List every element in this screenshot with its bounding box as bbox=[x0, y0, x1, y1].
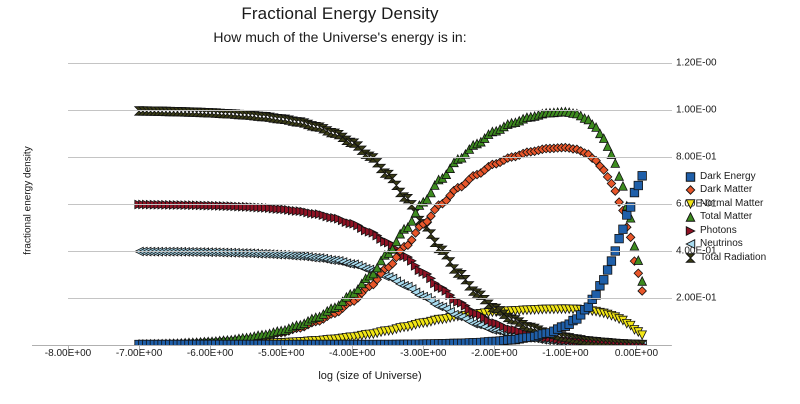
chart-legend: Dark EnergyDark MatterNormal MatterTotal… bbox=[684, 170, 800, 265]
x-tick-mark bbox=[636, 345, 637, 349]
y-tick-label: 1.00E-00 bbox=[676, 105, 717, 116]
x-axis-title: log (size of Universe) bbox=[68, 370, 672, 382]
gridline bbox=[68, 63, 672, 64]
x-tick-label: -1.00E+00 bbox=[542, 348, 588, 359]
triangle-up-marker-icon bbox=[684, 211, 697, 223]
gridline bbox=[68, 204, 672, 205]
x-tick-mark bbox=[210, 345, 211, 349]
x-tick-label: -2.00E+00 bbox=[471, 348, 517, 359]
x-tick-label: 0.00E+00 bbox=[615, 348, 658, 359]
legend-label: Normal Matter bbox=[700, 198, 763, 210]
square-marker-icon bbox=[684, 171, 697, 183]
gridline bbox=[68, 298, 672, 299]
x-tick-mark bbox=[352, 345, 353, 349]
x-tick-label: -3.00E+00 bbox=[400, 348, 446, 359]
x-tick-mark bbox=[565, 345, 566, 349]
legend-label: Photons bbox=[700, 225, 737, 237]
triangle-left-marker-icon bbox=[684, 238, 697, 250]
legend-label: Dark Matter bbox=[700, 184, 752, 196]
legend-label: Neutrinos bbox=[700, 238, 743, 250]
legend-item-total-radiation[interactable]: Total Radiation bbox=[684, 251, 800, 265]
diamond-marker-icon bbox=[684, 184, 697, 196]
x-tick-mark bbox=[139, 345, 140, 349]
x-tick-mark bbox=[68, 345, 69, 349]
x-tick-mark bbox=[281, 345, 282, 349]
gridline bbox=[68, 157, 672, 158]
gridline bbox=[68, 110, 672, 111]
legend-label: Total Matter bbox=[700, 211, 752, 223]
x-tick-label: -4.00E+00 bbox=[329, 348, 375, 359]
y-tick-label: 2.00E-01 bbox=[676, 293, 717, 304]
legend-label: Total Radiation bbox=[700, 252, 766, 264]
x-tick-label: -5.00E+00 bbox=[258, 348, 304, 359]
series-dark-energy bbox=[135, 172, 647, 345]
plot-area bbox=[68, 63, 672, 345]
bowtie-marker-icon bbox=[684, 252, 697, 264]
legend-item-dark-energy[interactable]: Dark Energy bbox=[684, 170, 800, 184]
x-tick-label: -6.00E+00 bbox=[187, 348, 233, 359]
legend-item-dark-matter[interactable]: Dark Matter bbox=[684, 184, 800, 198]
x-tick-mark bbox=[494, 345, 495, 349]
legend-label: Dark Energy bbox=[700, 171, 756, 183]
x-tick-label: -8.00E+00 bbox=[45, 348, 91, 359]
legend-item-normal-matter[interactable]: Normal Matter bbox=[684, 197, 800, 211]
y-tick-label: 8.00E-01 bbox=[676, 152, 717, 163]
triangle-right-marker-icon bbox=[684, 225, 697, 237]
gridline bbox=[68, 251, 672, 252]
legend-item-photons[interactable]: Photons bbox=[684, 224, 800, 238]
triangle-down-marker-icon bbox=[684, 198, 697, 210]
x-tick-mark bbox=[423, 345, 424, 349]
chart-screenshot: Fractional Energy Density How much of th… bbox=[0, 0, 800, 404]
x-tick-label: -7.00E+00 bbox=[116, 348, 162, 359]
chart-title: Fractional Energy Density bbox=[0, 4, 680, 24]
chart-subtitle: How much of the Universe's energy is in: bbox=[0, 29, 680, 45]
y-axis-title: fractional energy density bbox=[23, 121, 34, 281]
y-tick-label: 1.20E-00 bbox=[676, 58, 717, 69]
legend-item-total-matter[interactable]: Total Matter bbox=[684, 211, 800, 225]
legend-item-neutrinos[interactable]: Neutrinos bbox=[684, 238, 800, 252]
